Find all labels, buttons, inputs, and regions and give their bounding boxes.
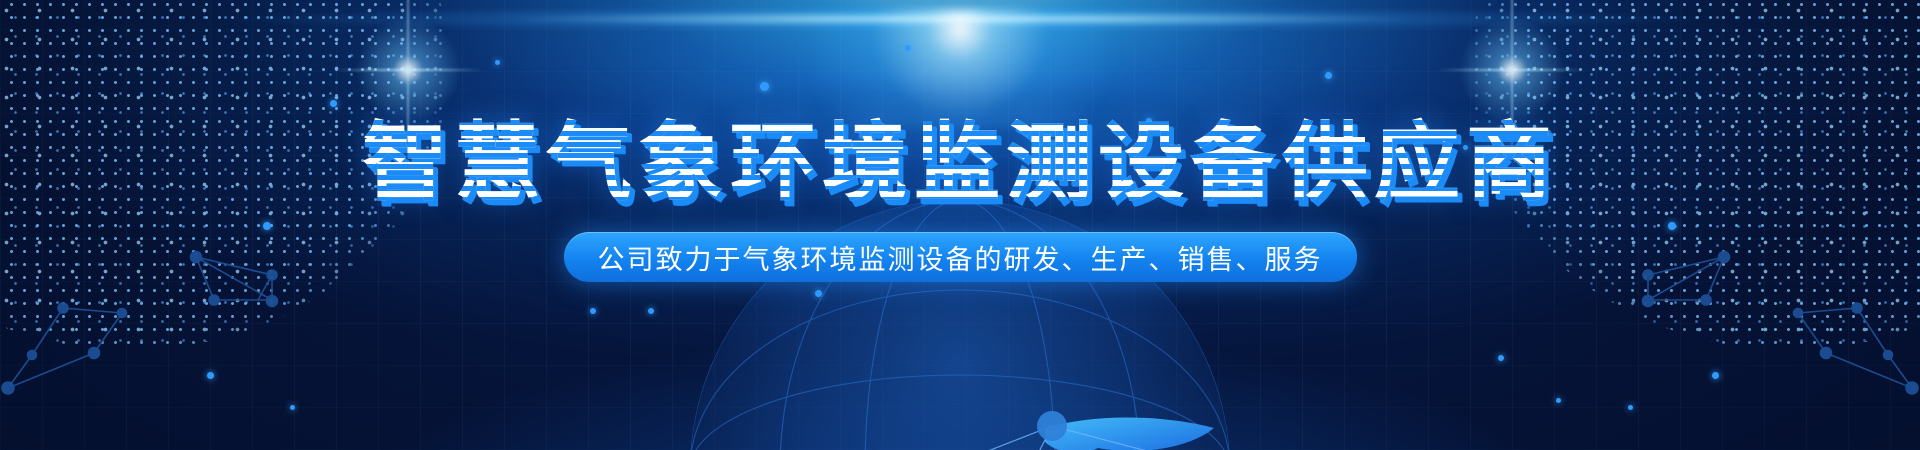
banner-content: 智慧气象环境监测设备供应商 智慧气象环境监测设备供应商 公司致力于气象环境监测设…: [0, 0, 1920, 450]
hero-banner: 智慧气象环境监测设备供应商 智慧气象环境监测设备供应商 公司致力于气象环境监测设…: [0, 0, 1920, 450]
page-title-text: 智慧气象环境监测设备供应商: [362, 115, 1558, 211]
subtitle-pill: 公司致力于气象环境监测设备的研发、生产、销售、服务: [564, 232, 1357, 282]
page-title: 智慧气象环境监测设备供应商 智慧气象环境监测设备供应商: [362, 120, 1558, 206]
subtitle-text: 公司致力于气象环境监测设备的研发、生产、销售、服务: [598, 238, 1323, 277]
